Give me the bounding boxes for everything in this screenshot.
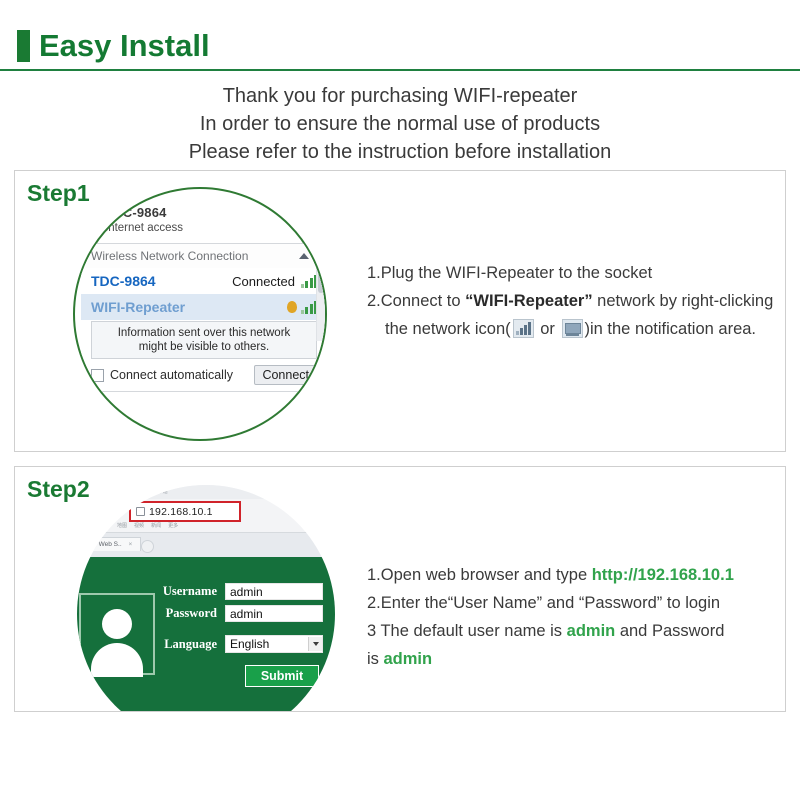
connect-automatically-label: Connect automatically xyxy=(110,368,233,382)
step2-instruction-3: 3 The default user name is admin and Pas… xyxy=(367,617,779,645)
wireless-list-header[interactable]: Wireless Network Connection xyxy=(81,244,325,268)
avatar xyxy=(79,593,155,675)
wireless-list-header-label: Wireless Network Connection xyxy=(91,249,248,263)
toolbar-item[interactable]: 视频 xyxy=(134,522,144,529)
step1-panel: Step1 TDC-9864 Internet access Wireless … xyxy=(14,170,786,452)
language-label: Language xyxy=(155,637,217,652)
step2-instruction-3-post: is xyxy=(367,650,384,668)
password-row: Password admin xyxy=(155,605,323,622)
browser-chrome: 收藏夹标题 192.168.10.1 网页 图片 地图 视频 新闻 更多 eat… xyxy=(77,485,335,557)
signal-bars-icon xyxy=(299,300,317,314)
browser-toolbar[interactable]: 网页 图片 地图 视频 新闻 更多 xyxy=(83,522,283,529)
intro-line-1: Thank you for purchasing WIFI-repeater xyxy=(0,82,800,110)
submit-button[interactable]: Submit xyxy=(245,665,319,687)
step2-label: Step2 xyxy=(27,476,90,503)
network-name: WIFI-Repeater xyxy=(91,299,185,315)
browser-tab[interactable]: eater Web S.. × xyxy=(77,537,141,551)
avatar-head-icon xyxy=(102,609,132,639)
step1-instruction-3-post: )in the notification area. xyxy=(585,320,757,338)
step1-instruction-2-pre: 2.Connect to xyxy=(367,292,465,310)
repeater-login-page: Username admin Password admin Language E… xyxy=(77,557,335,712)
tray-network-name: TDC-9864 xyxy=(105,205,327,220)
step2-instruction-2: 2.Enter the“User Name” and “Password” to… xyxy=(367,589,779,617)
network-list-item[interactable]: TDC-9864 Connected xyxy=(81,268,325,294)
step2-instruction-1: 1.Open web browser and type http://192.1… xyxy=(367,561,779,589)
step1-label: Step1 xyxy=(27,180,90,207)
address-bar[interactable]: 192.168.10.1 xyxy=(129,501,241,522)
step2-instruction-1-pre: 1.Open web browser and type xyxy=(367,566,592,584)
toolbar-item[interactable]: 网页 xyxy=(83,522,93,529)
step1-instruction-2: 2.Connect to “WIFI-Repeater” network by … xyxy=(367,287,779,315)
network-row-right: Connected xyxy=(232,274,317,289)
network-connect-footer: Connect automatically Connect xyxy=(81,362,325,391)
page-title: Easy Install xyxy=(39,30,210,62)
step2-instruction-3-pre: 3 The default user name is xyxy=(367,622,567,640)
network-name: TDC-9864 xyxy=(91,273,156,289)
tooltip-line-1: Information sent over this network xyxy=(98,326,310,340)
step2-instruction-3-mid: and Password xyxy=(615,622,724,640)
step1-instruction-1: 1.Plug the WIFI-Repeater to the socket xyxy=(367,259,779,287)
wireless-network-list: Wireless Network Connection TDC-9864 Con… xyxy=(81,243,325,392)
username-row: Username admin xyxy=(155,583,323,600)
new-tab-icon[interactable] xyxy=(141,540,154,553)
language-row: Language English xyxy=(155,635,323,653)
header-divider xyxy=(0,69,800,71)
chevron-down-icon[interactable] xyxy=(308,637,322,651)
network-monitor-icon xyxy=(562,319,583,338)
network-status: Connected xyxy=(232,274,295,289)
network-row-right xyxy=(287,300,317,314)
connect-automatically-checkbox[interactable] xyxy=(91,369,104,382)
step1-instructions: 1.Plug the WIFI-Repeater to the socket 2… xyxy=(367,259,779,343)
connect-button[interactable]: Connect xyxy=(254,365,317,385)
intro-line-3: Please refer to the instruction before i… xyxy=(0,138,800,166)
signal-bars-icon xyxy=(299,274,317,288)
password-label: Password xyxy=(155,606,217,621)
browser-tabbar: eater Web S.. × xyxy=(77,532,335,558)
browser-tab-title: eater Web S.. xyxy=(82,541,122,548)
step2-panel: Step2 收藏夹标题 192.168.10.1 网页 图片 地图 视频 新闻 … xyxy=(14,466,786,712)
signal-bars-icon xyxy=(513,319,534,338)
toolbar-item[interactable]: 更多 xyxy=(168,522,178,529)
step1-instruction-3-mid: or xyxy=(536,320,560,338)
tooltip-line-2: might be visible to others. xyxy=(98,340,310,354)
tray-network-status: Internet access xyxy=(105,222,327,234)
warning-shield-icon xyxy=(287,301,297,313)
network-list-item[interactable]: WIFI-Repeater xyxy=(81,294,325,320)
header-title-row: Easy Install xyxy=(17,30,210,62)
browser-menubar xyxy=(77,485,335,499)
language-select-value: English xyxy=(230,637,269,651)
username-input[interactable]: admin xyxy=(225,583,323,600)
step1-instruction-2-post: network by right-clicking xyxy=(593,292,774,310)
repeater-login-url[interactable]: http://192.168.10.1 xyxy=(592,566,734,584)
avatar-body-icon xyxy=(91,643,143,677)
step1-screenshot-circle: TDC-9864 Internet access Wireless Networ… xyxy=(73,187,327,441)
page-header: Easy Install xyxy=(0,0,800,74)
address-bar-value: 192.168.10.1 xyxy=(149,506,213,518)
close-icon[interactable]: × xyxy=(128,541,132,548)
step2-screenshot-circle: 收藏夹标题 192.168.10.1 网页 图片 地图 视频 新闻 更多 eat… xyxy=(77,485,335,712)
intro-paragraph: Thank you for purchasing WIFI-repeater I… xyxy=(0,82,800,166)
step2-instructions: 1.Open web browser and type http://192.1… xyxy=(367,561,779,673)
browser-menu-hint: 收藏夹标题 xyxy=(141,488,168,495)
tray-network-summary: TDC-9864 Internet access xyxy=(105,205,327,234)
password-input[interactable]: admin xyxy=(225,605,323,622)
header-bullet-icon xyxy=(17,30,30,62)
default-password-value: admin xyxy=(384,650,433,668)
step1-instruction-3-pre: the network icon( xyxy=(385,320,511,338)
username-label: Username xyxy=(155,584,217,599)
intro-line-2: In order to ensure the normal use of pro… xyxy=(0,110,800,138)
language-select[interactable]: English xyxy=(225,635,323,653)
network-security-tooltip: Information sent over this network might… xyxy=(91,321,317,359)
scrollbar-thumb[interactable] xyxy=(318,251,324,293)
network-tray-icon xyxy=(89,219,103,233)
network-list-scrollbar[interactable] xyxy=(316,249,325,341)
connect-automatically-row[interactable]: Connect automatically xyxy=(91,368,233,382)
page-icon xyxy=(136,507,145,516)
chevron-up-icon[interactable] xyxy=(299,253,309,259)
step2-instruction-4: is admin xyxy=(367,645,779,673)
step1-instruction-3: the network icon( or )in the notificatio… xyxy=(367,315,779,343)
default-username-value: admin xyxy=(567,622,616,640)
toolbar-item[interactable]: 图片 xyxy=(100,522,110,529)
step1-instruction-2-bold: “WIFI-Repeater” xyxy=(465,292,592,310)
toolbar-item[interactable]: 地图 xyxy=(117,522,127,529)
toolbar-item[interactable]: 新闻 xyxy=(151,522,161,529)
